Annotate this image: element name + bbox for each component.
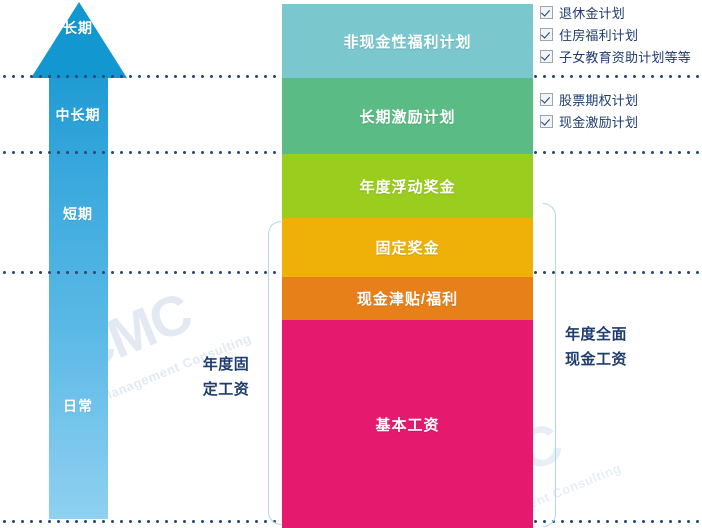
annual-fixed-salary-label: 年度固 定工资 [190,352,262,402]
bar-cash-allowance-benefit[interactable]: 现金津贴/福利 [282,277,533,320]
annual-total-cash-label-line2: 现金工资 [565,347,657,372]
checklist-item-label: 现金激励计划 [559,112,638,131]
bar-long-term-incentive[interactable]: 长期激励计划 [282,78,533,154]
time-arrow-head-icon [31,2,127,78]
annual-fixed-salary-brace [268,221,281,525]
bar-noncash-benefit-plan[interactable]: 非现金性福利计划 [282,4,533,78]
arrow-label-short-term: 短期 [18,204,138,224]
checklist-item-label: 退休金计划 [559,3,625,22]
checklist-item[interactable]: 股票期权计划 [540,90,638,109]
bar-label: 长期激励计划 [359,106,455,127]
checkmark-icon[interactable] [540,50,553,63]
annual-total-cash-brace [543,203,556,527]
checklist-item-label: 住房福利计划 [559,25,638,44]
annual-fixed-salary-label-line2: 定工资 [190,377,262,402]
time-arrow-shaft [49,70,108,519]
checklist-item[interactable]: 现金激励计划 [540,112,638,131]
checkmark-icon[interactable] [540,28,553,41]
bar-label: 固定奖金 [375,237,439,258]
arrow-label-mid-long-term: 中长期 [18,105,138,125]
checkmark-icon[interactable] [540,115,553,128]
arrow-label-daily: 日常 [18,396,138,416]
annual-total-cash-label: 年度全面 现金工资 [565,322,657,372]
arrow-label-long-term: 长期 [18,18,138,38]
checklist-item-label: 子女教育资助计划等等 [559,47,691,66]
bar-fixed-bonus[interactable]: 固定奖金 [282,218,533,277]
incentive-plans-checklist: 股票期权计划 现金激励计划 [540,90,638,134]
checkmark-icon[interactable] [540,6,553,19]
checkmark-icon[interactable] [540,93,553,106]
diagram-canvas: CMC Management Consulting CMC Management… [0,0,702,528]
annual-total-cash-label-line1: 年度全面 [565,322,657,347]
annual-fixed-salary-label-line1: 年度固 [190,352,262,377]
checklist-item[interactable]: 退休金计划 [540,3,691,22]
bar-base-salary[interactable]: 基本工资 [282,320,533,528]
bar-label: 基本工资 [375,414,439,435]
checklist-item[interactable]: 住房福利计划 [540,25,691,44]
benefit-plans-checklist: 退休金计划 住房福利计划 子女教育资助计划等等 [540,3,691,69]
checklist-item-label: 股票期权计划 [559,90,638,109]
bar-label: 年度浮动奖金 [359,176,455,197]
bar-label: 现金津贴/福利 [357,288,458,309]
bar-label: 非现金性福利计划 [343,31,471,52]
checklist-item[interactable]: 子女教育资助计划等等 [540,47,691,66]
bar-annual-variable-bonus[interactable]: 年度浮动奖金 [282,154,533,218]
